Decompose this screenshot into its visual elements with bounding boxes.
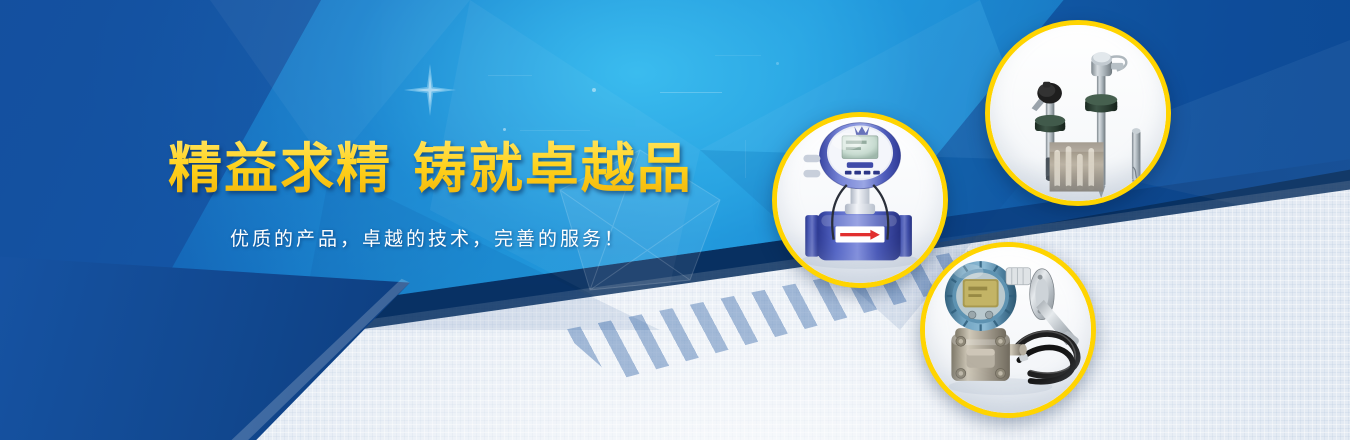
accent-dot <box>592 88 596 92</box>
product-bubble-flowmeter[interactable] <box>772 112 948 288</box>
probe-tips-tray <box>1050 142 1104 191</box>
thermocouple-probe-image <box>990 25 1166 201</box>
product-bubble-transmitter[interactable] <box>920 242 1096 418</box>
accent-dot <box>776 62 779 65</box>
page-title: 精益求精 铸就卓越品质 <box>168 140 688 198</box>
accent-line <box>660 92 722 93</box>
promo-banner: 精益求精 铸就卓越品质 优质的产品，卓越的技术，完善的服务！ <box>0 0 1350 440</box>
accent-line <box>520 130 590 131</box>
product-bubble-thermocouple[interactable] <box>985 20 1171 206</box>
headline-block: 精益求精 铸就卓越品质 优质的产品，卓越的技术，完善的服务！ <box>168 140 688 251</box>
pressure-transmitter-image <box>925 247 1091 413</box>
page-subtitle: 优质的产品，卓越的技术，完善的服务！ <box>168 224 688 251</box>
accent-line <box>488 75 532 76</box>
electromagnetic-flowmeter-image <box>777 117 943 283</box>
manifold <box>951 328 1009 381</box>
accent-dot <box>503 128 506 131</box>
accent-line <box>715 55 761 56</box>
probe-right <box>1132 128 1141 190</box>
